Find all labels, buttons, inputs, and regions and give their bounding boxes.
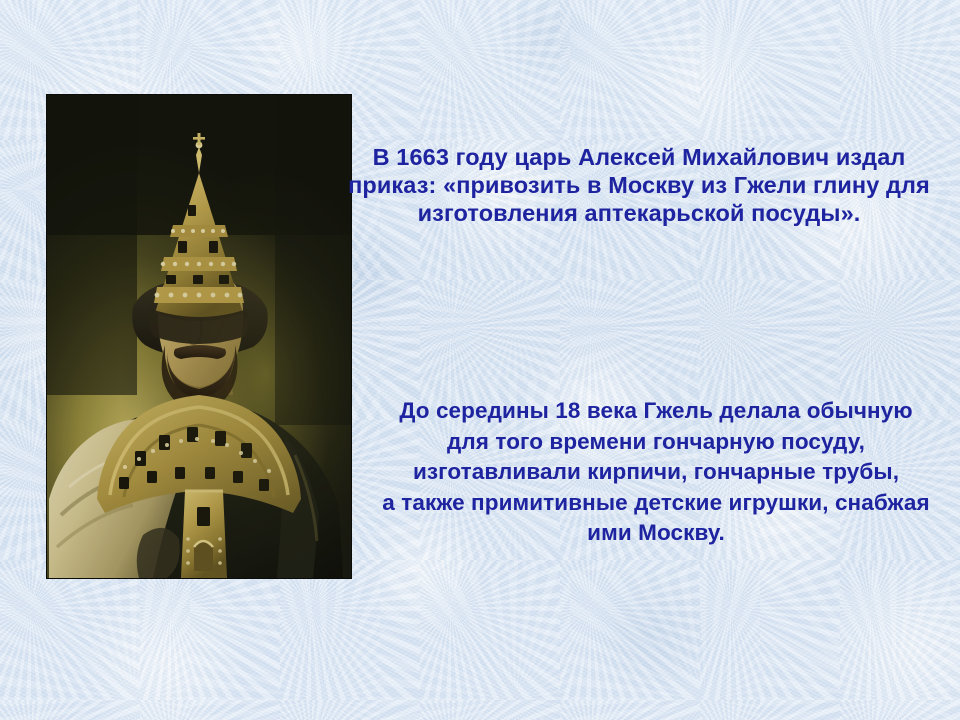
paragraph1-line-1: В 1663 году царь Алексей Михайлович изда… <box>330 143 948 171</box>
paragraph2-line-1: До середины 18 века Гжель делала обычную <box>366 396 946 427</box>
paragraph2-line-5: ими Москву. <box>366 518 946 549</box>
portrait-tsar-alexei-mikhailovich <box>47 95 351 578</box>
presentation-slide: В 1663 году царь Алексей Михайлович изда… <box>0 0 960 720</box>
paragraph1-line-2: приказ: «привозить в Москву из Гжели гли… <box>330 171 948 199</box>
paragraph2-line-3: изготавливали кирпичи, гончарные трубы, <box>366 457 946 488</box>
paragraph-decree-1663: В 1663 году царь Алексей Михайлович изда… <box>330 143 948 227</box>
paragraph1-line-3: изготовления аптекарьской посуды». <box>330 199 948 227</box>
paragraph-gzhel-18th-century: До середины 18 века Гжель делала обычную… <box>366 396 946 549</box>
paragraph2-line-2: для того времени гончарную посуду, <box>366 427 946 458</box>
paragraph2-line-4: а также примитивные детские игрушки, сна… <box>366 488 946 519</box>
